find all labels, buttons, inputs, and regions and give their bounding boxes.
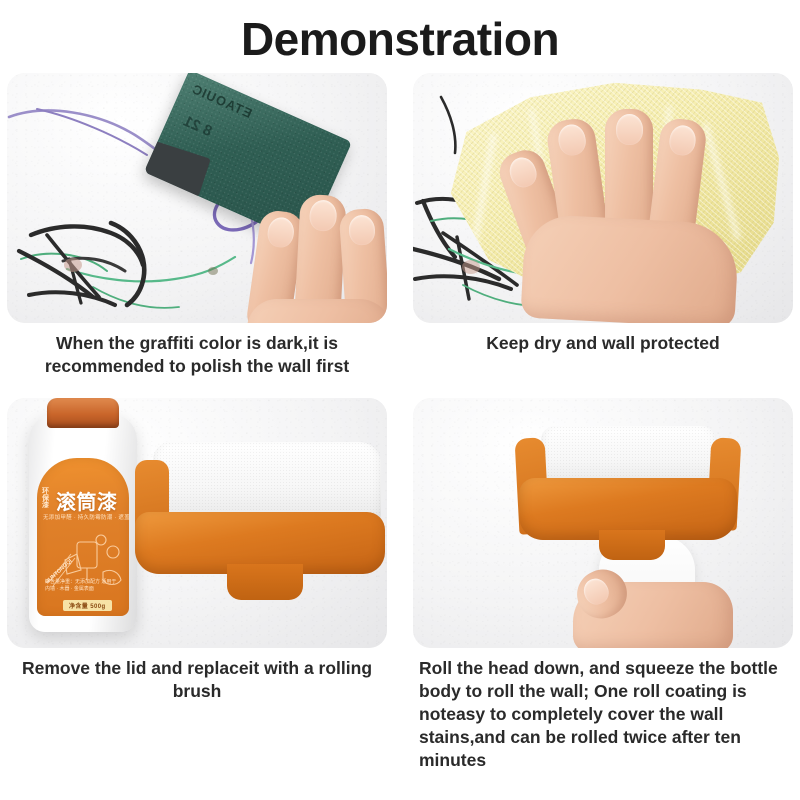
photo-wiping-cloth [413,73,793,323]
demo-step-3: 环保漆 滚筒漆 无添加甲醛 · 持久防霉防潮 · 遮盖力强 · 自干快速成膜 [7,398,387,772]
bottle-label-subline: 无添加甲醛 · 持久防霉防潮 · 遮盖力强 · 自干快速成膜 [43,513,125,521]
bottle-cap [47,398,119,428]
roller-head [135,438,385,613]
bottle-label-badge: 环保漆 [42,488,54,510]
hand-wiping [505,95,753,323]
photo-bottle-and-roller: 环保漆 滚筒漆 无添加甲醛 · 持久防霉防潮 · 遮盖力强 · 自干快速成膜 [7,398,387,648]
fingernail [579,574,612,608]
demo-step-4: Roll the head down, and squeeze the bott… [413,398,793,772]
bottle-weight: 净含量 500g [63,600,112,611]
bottle-label: 环保漆 滚筒漆 无添加甲醛 · 持久防霉防潮 · 遮盖力强 · 自干快速成膜 [37,458,129,616]
roller-stem [227,564,303,600]
hand-holding-block [243,169,387,323]
fingernail [348,214,376,246]
caption-step-2: Keep dry and wall protected [413,323,793,355]
roller-head [517,426,745,566]
fingernail [309,199,338,231]
page-title: Demonstration [0,14,800,65]
bottle-label-footline: 净含量净重：无添加配方 适用于内墙 · 木器 · 金属表面 [45,579,121,594]
fingernail [616,114,643,145]
paint-bottle: 环保漆 滚筒漆 无添加甲醛 · 持久防霉防潮 · 遮盖力强 · 自干快速成膜 [29,414,137,632]
palm [520,213,739,323]
fingernail [668,124,697,157]
caption-step-1: When the graffiti color is dark,it is re… [7,323,387,378]
photo-sanding-wall: ETAOUIC 8 21 [7,73,387,323]
palm [247,299,387,323]
fingernail [557,122,588,156]
roller-stem [599,530,665,560]
caption-step-4: Roll the head down, and squeeze the bott… [413,648,793,772]
demo-grid: ETAOUIC 8 21 When the [0,73,800,773]
photo-rolling-wall [413,398,793,648]
hand-squeezing-bottle [573,566,733,648]
demo-step-2: Keep dry and wall protected [413,73,793,378]
fingernail [506,153,541,190]
fingernail [266,215,296,248]
demo-step-1: ETAOUIC 8 21 When the [7,73,387,378]
bottle-label-brand: 滚筒漆 [56,486,118,515]
demonstration-page: Demonstration [0,14,800,800]
caption-step-3: Remove the lid and replaceit with a roll… [7,648,387,703]
